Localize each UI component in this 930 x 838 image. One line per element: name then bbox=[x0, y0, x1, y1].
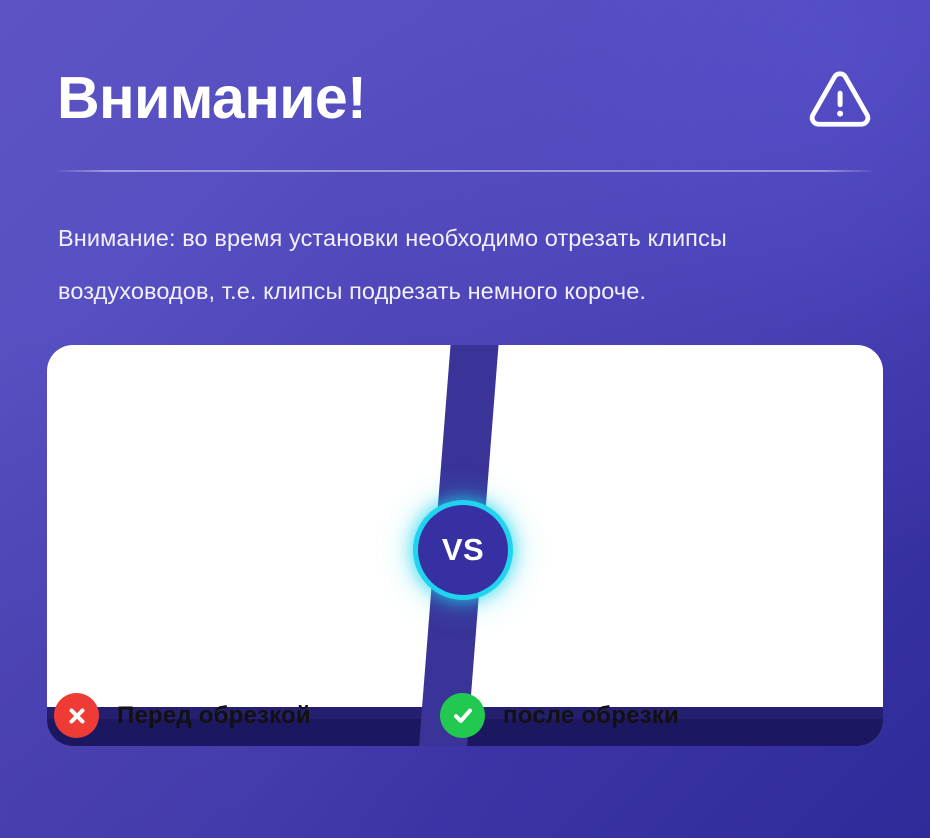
header: Внимание! bbox=[57, 52, 873, 144]
page-title: Внимание! bbox=[57, 69, 366, 128]
label-before-text: Перед обрезкой bbox=[117, 702, 311, 730]
header-divider bbox=[57, 170, 872, 172]
check-icon bbox=[440, 693, 485, 738]
label-before: Перед обрезкой bbox=[47, 686, 459, 745]
cross-icon bbox=[54, 693, 99, 738]
label-after: после обрезки bbox=[433, 686, 827, 745]
vs-badge: VS bbox=[418, 505, 508, 595]
page-root: Внимание! Внимание: во время установки н… bbox=[0, 0, 930, 838]
warning-triangle-icon bbox=[807, 67, 873, 129]
comparison-labels: Перед обрезкой после обрезки bbox=[47, 686, 883, 746]
label-after-text: после обрезки bbox=[503, 702, 679, 730]
warning-paragraph: Внимание: во время установки необходимо … bbox=[58, 212, 884, 318]
